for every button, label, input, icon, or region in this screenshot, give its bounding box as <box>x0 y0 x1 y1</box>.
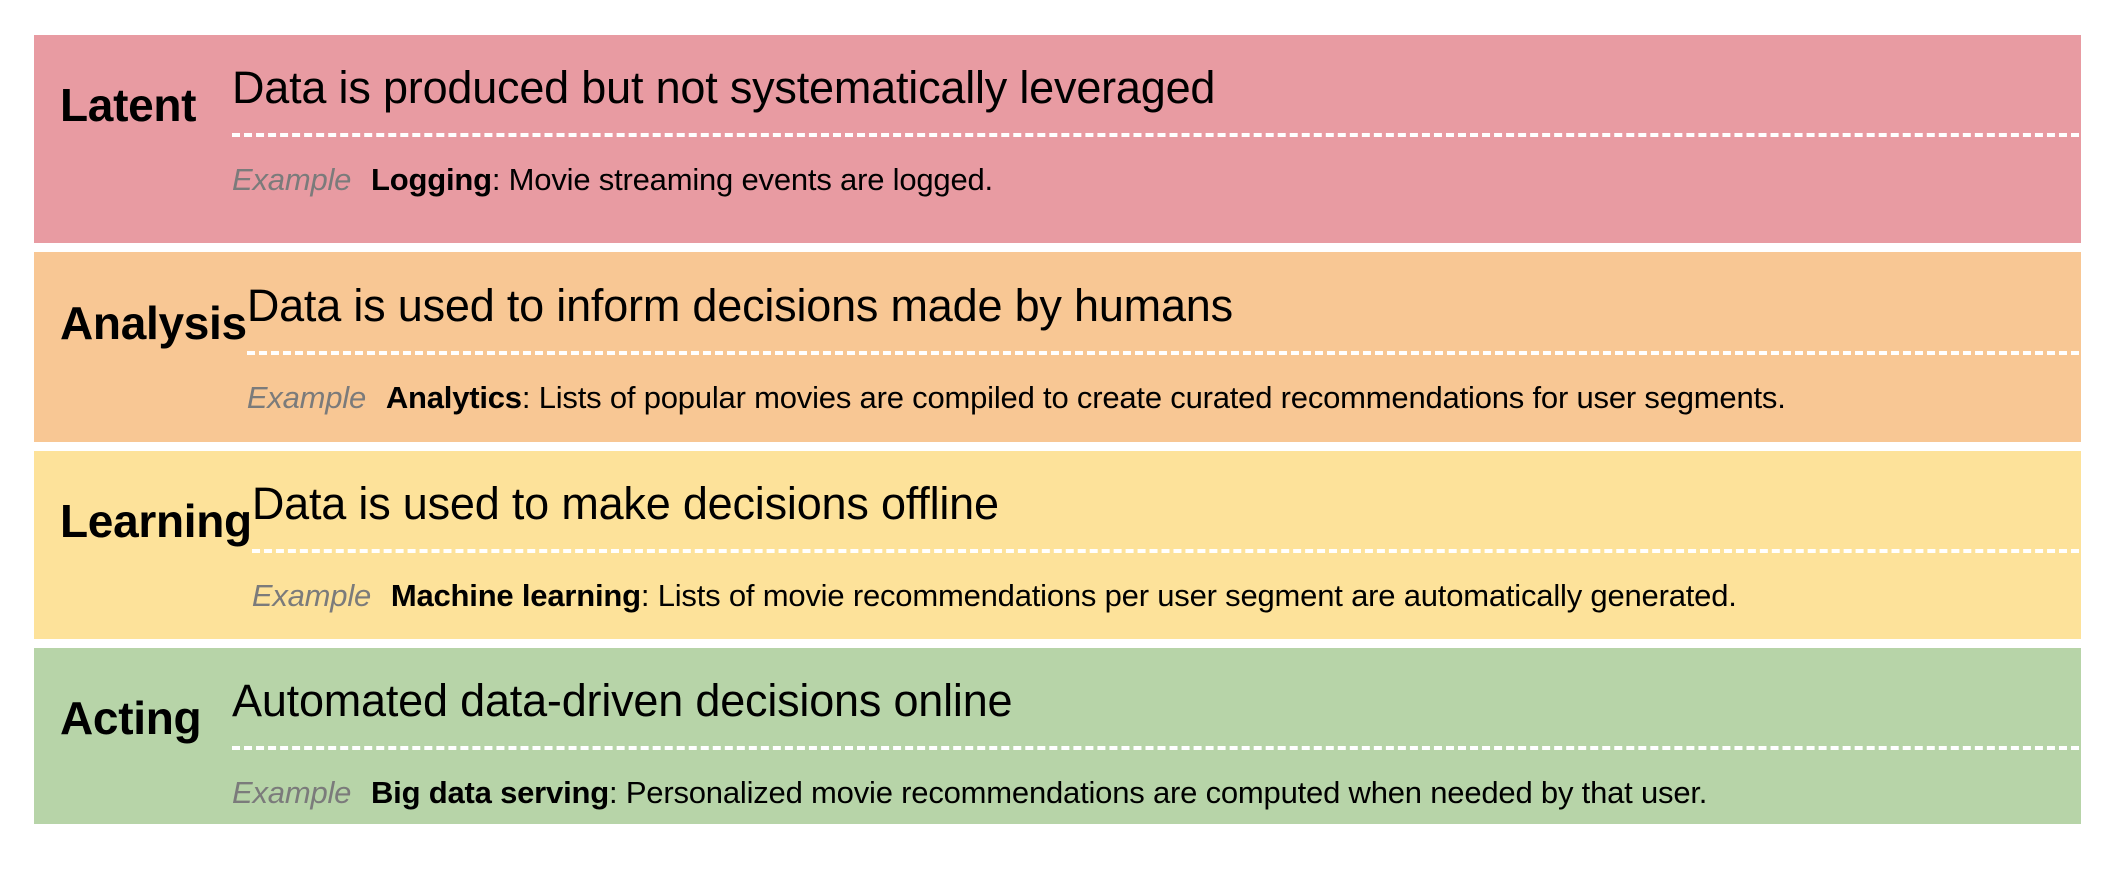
band-label-column: Latent <box>34 35 232 243</box>
example-tag-label: Example <box>232 164 371 195</box>
example-term: Analytics <box>386 380 522 415</box>
example-separator: : <box>522 380 539 415</box>
example-term: Big data serving <box>371 775 609 810</box>
band-level-label: Acting <box>60 695 201 741</box>
band-level-label: Latent <box>60 82 196 128</box>
example-separator: : <box>609 775 626 810</box>
example-body: Analytics: Lists of popular movies are c… <box>386 382 1786 413</box>
band-headline: Data is used to make decisions offline <box>252 481 2079 526</box>
band-headline: Data is produced but not systematically … <box>232 65 2079 110</box>
band-dashed-divider <box>252 549 2079 553</box>
band-content-column: Automated data-driven decisions online E… <box>232 648 2081 824</box>
example-body: Machine learning: Lists of movie recomme… <box>391 580 1737 611</box>
example-tag-label: Example <box>247 382 386 413</box>
band-example-row: Example Machine learning: Lists of movie… <box>252 580 2079 611</box>
band-example-row: Example Analytics: Lists of popular movi… <box>247 382 2079 413</box>
maturity-band-learning: Learning Data is used to make decisions … <box>34 451 2081 639</box>
example-separator: : <box>492 162 509 197</box>
band-label-column: Learning <box>34 451 252 639</box>
band-example-row: Example Logging: Movie streaming events … <box>232 164 2079 195</box>
example-description: Personalized movie recommendations are c… <box>626 775 1707 810</box>
band-dashed-divider <box>232 746 2079 750</box>
band-label-column: Analysis <box>34 252 247 442</box>
example-description: Movie streaming events are logged. <box>509 162 993 197</box>
band-headline: Automated data-driven decisions online <box>232 678 2079 723</box>
band-content-column: Data is produced but not systematically … <box>232 35 2081 243</box>
band-label-column: Acting <box>34 648 232 824</box>
band-headline: Data is used to inform decisions made by… <box>247 283 2079 328</box>
example-term: Machine learning <box>391 578 641 613</box>
example-body: Big data serving: Personalized movie rec… <box>371 777 1707 808</box>
maturity-band-analysis: Analysis Data is used to inform decision… <box>34 252 2081 442</box>
band-content-column: Data is used to make decisions offline E… <box>252 451 2081 639</box>
band-dashed-divider <box>247 351 2079 355</box>
example-separator: : <box>641 578 658 613</box>
band-dashed-divider <box>232 133 2079 137</box>
maturity-band-acting: Acting Automated data-driven decisions o… <box>34 648 2081 824</box>
example-description: Lists of popular movies are compiled to … <box>539 380 1786 415</box>
maturity-levels-diagram: Latent Data is produced but not systemat… <box>34 35 2081 824</box>
maturity-band-latent: Latent Data is produced but not systemat… <box>34 35 2081 243</box>
band-level-label: Analysis <box>60 300 247 346</box>
example-description: Lists of movie recommendations per user … <box>658 578 1737 613</box>
example-term: Logging <box>371 162 492 197</box>
band-level-label: Learning <box>60 498 252 544</box>
example-tag-label: Example <box>232 777 371 808</box>
example-tag-label: Example <box>252 580 391 611</box>
example-body: Logging: Movie streaming events are logg… <box>371 164 993 195</box>
band-content-column: Data is used to inform decisions made by… <box>247 252 2081 442</box>
band-example-row: Example Big data serving: Personalized m… <box>232 777 2079 808</box>
